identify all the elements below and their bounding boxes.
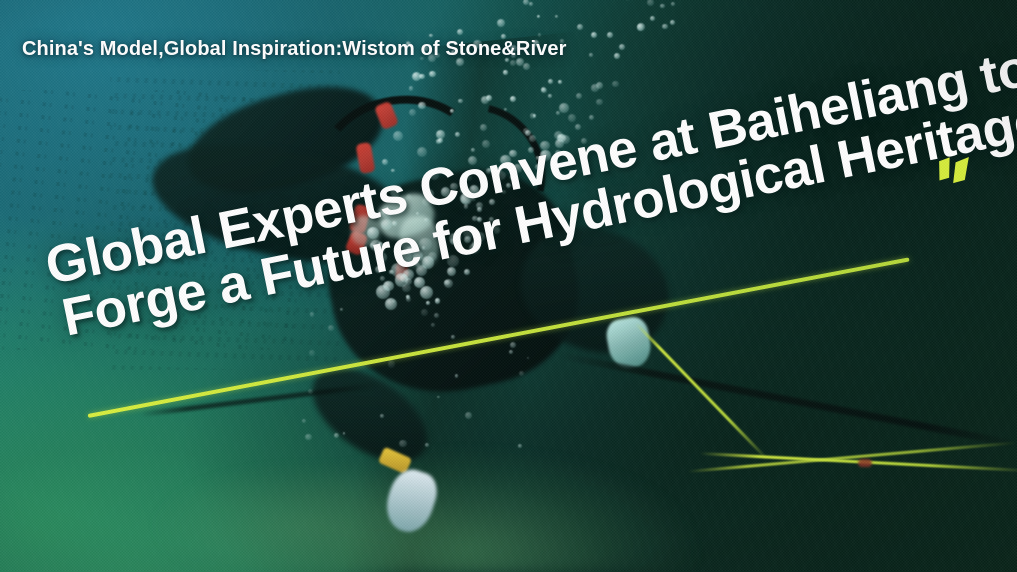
- bubble: [568, 114, 576, 122]
- bubble: [497, 19, 505, 27]
- quote-mark-icon: [932, 148, 986, 203]
- bubble: [438, 138, 443, 143]
- headline: Global Experts Convene at Baiheliang to …: [41, 56, 974, 347]
- bubble: [464, 269, 470, 275]
- bubble: [670, 20, 675, 25]
- bubble: [523, 63, 530, 70]
- bubble: [596, 99, 602, 105]
- bubble: [402, 284, 411, 293]
- bubble: [414, 277, 425, 288]
- bubble: [343, 432, 346, 435]
- bubble: [523, 128, 529, 134]
- bubble: [558, 80, 562, 84]
- bubble: [537, 15, 540, 18]
- bubble: [431, 323, 435, 327]
- bubble: [481, 96, 489, 104]
- bubble: [309, 350, 314, 355]
- bubble: [436, 139, 441, 144]
- bubble: [637, 24, 643, 30]
- bubble: [458, 99, 463, 104]
- bubble: [538, 33, 541, 36]
- bubble: [455, 374, 459, 378]
- bubble: [455, 132, 460, 137]
- bubble: [559, 103, 569, 113]
- bubble: [660, 4, 665, 9]
- bubble: [392, 300, 395, 303]
- bubble: [425, 443, 429, 447]
- bubble: [434, 313, 440, 319]
- bubble: [591, 84, 598, 91]
- bubble: [548, 79, 553, 84]
- bubble: [444, 279, 453, 288]
- bubble: [671, 2, 675, 6]
- bubble: [650, 16, 655, 21]
- bubble: [406, 295, 409, 298]
- bubble: [591, 32, 597, 38]
- bubble: [589, 115, 594, 120]
- bubble: [382, 159, 388, 165]
- bubble: [409, 109, 416, 116]
- bubble: [525, 130, 531, 136]
- bubble: [328, 325, 334, 331]
- bubble: [376, 285, 390, 299]
- bubble: [576, 93, 582, 99]
- bubble: [418, 102, 426, 110]
- bubble: [465, 412, 472, 419]
- bubble: [399, 440, 406, 447]
- bubble: [380, 414, 384, 418]
- bubble: [509, 350, 513, 354]
- bubble: [577, 24, 583, 30]
- bubble: [555, 15, 559, 19]
- bubble: [436, 130, 445, 139]
- bubble: [393, 131, 403, 141]
- bubble: [662, 24, 668, 30]
- bubble: [612, 81, 618, 87]
- bubble: [451, 335, 455, 339]
- bubble: [556, 111, 560, 115]
- kicker-text: China's Model,Global Inspiration:Wistom …: [22, 38, 566, 61]
- bubble: [437, 396, 439, 398]
- diver-glove-left: [380, 464, 443, 537]
- bubble: [503, 70, 508, 75]
- bubble: [637, 23, 645, 31]
- bubble: [486, 95, 492, 101]
- bubble: [589, 53, 593, 57]
- bubble: [527, 357, 529, 359]
- bubble: [523, 0, 530, 5]
- bubble: [334, 433, 339, 438]
- bubble: [530, 113, 535, 118]
- bubble: [457, 29, 463, 35]
- bubble: [429, 34, 433, 38]
- bubble: [480, 124, 487, 131]
- bubble: [388, 360, 395, 367]
- bubble: [607, 32, 613, 38]
- regulator-fitting: [356, 142, 376, 174]
- bubble: [529, 2, 533, 6]
- bubble: [533, 114, 537, 118]
- bubble: [417, 147, 427, 157]
- bubble: [444, 280, 449, 285]
- bubble: [518, 444, 522, 448]
- cable-marker: [858, 459, 872, 467]
- bubble: [340, 308, 343, 311]
- bubble: [614, 53, 620, 59]
- diver-wrist-cuff: [378, 447, 412, 475]
- bubble: [426, 301, 430, 305]
- bubble: [647, 0, 654, 6]
- title-card: China's Model,Global Inspiration:Wistom …: [0, 0, 1017, 572]
- bubble: [310, 312, 315, 317]
- dark-hose: [559, 352, 1017, 449]
- bubble: [385, 298, 397, 310]
- regulator-fitting: [374, 101, 399, 131]
- bubble: [420, 286, 433, 299]
- bubble: [510, 96, 516, 102]
- bubble: [541, 87, 546, 92]
- bubble: [504, 108, 507, 111]
- bubble: [412, 72, 421, 81]
- bubble: [435, 298, 441, 304]
- bubble: [302, 419, 306, 423]
- bubble: [421, 309, 428, 316]
- bubble: [548, 94, 552, 98]
- bubble: [519, 371, 524, 376]
- bubble: [450, 109, 454, 113]
- bubble: [619, 44, 625, 50]
- bubble: [541, 88, 547, 94]
- bubble: [305, 434, 311, 440]
- bubble: [510, 342, 516, 348]
- bubble: [596, 82, 603, 89]
- bubble: [429, 71, 435, 77]
- bubble: [419, 74, 425, 80]
- bubble: [409, 86, 414, 91]
- bubble: [406, 297, 411, 302]
